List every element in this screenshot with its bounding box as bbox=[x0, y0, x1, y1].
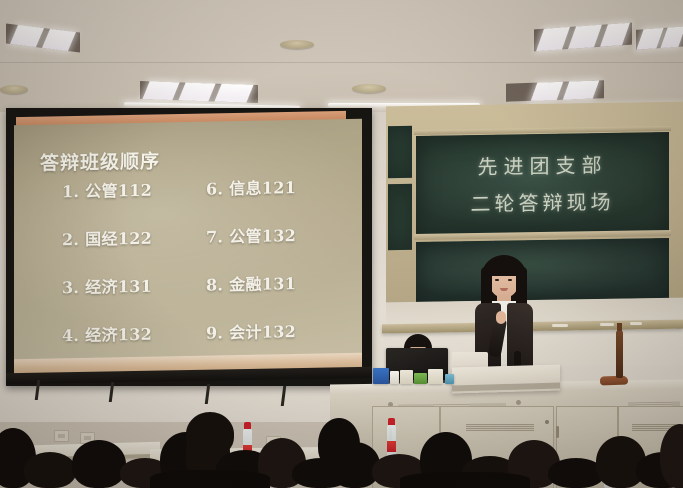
leather-pouch bbox=[600, 376, 628, 386]
audience-head bbox=[72, 440, 126, 488]
slide-list-item: 9. 会计132 bbox=[206, 318, 308, 344]
desk-box bbox=[390, 371, 399, 384]
slide-list-item: 6. 信息121 bbox=[206, 174, 308, 200]
bottle-cap bbox=[388, 418, 395, 425]
projection-screen[interactable]: 答辩班级顺序 1. 公管112 2. 国经122 3. 经济131 4. 经济1… bbox=[6, 108, 372, 386]
desk-box bbox=[445, 374, 454, 384]
blackboard-side-panel bbox=[388, 126, 412, 178]
blackboard-line-1: 先进团支部 bbox=[416, 148, 669, 181]
slide-content: 答辩班级顺序 1. 公管112 2. 国经122 3. 经济131 4. 经济1… bbox=[14, 119, 362, 361]
audience-shoulders bbox=[400, 472, 530, 488]
blackboard-side-panel bbox=[388, 184, 412, 250]
classroom-photo: 先进团支部 二轮答辩现场 答辩班级顺序 1. 公管112 2. 国经122 3.… bbox=[0, 0, 683, 488]
slide-list-item: 4. 经济132 bbox=[62, 321, 152, 347]
smoke-detector-icon bbox=[0, 85, 28, 94]
audience-head bbox=[318, 418, 360, 470]
dark-bottle bbox=[616, 330, 623, 378]
recessed-troffer-light bbox=[6, 23, 80, 52]
slide-list-item: 7. 公管132 bbox=[206, 222, 308, 248]
chalk-piece bbox=[552, 324, 568, 327]
presenter-eye-right bbox=[508, 279, 512, 281]
recessed-troffer-light bbox=[506, 80, 604, 101]
presenter-eye-left bbox=[495, 279, 499, 281]
recessed-troffer-light bbox=[534, 23, 632, 52]
presenter-hand bbox=[496, 311, 506, 324]
smoke-detector-icon bbox=[280, 40, 314, 49]
audience-head bbox=[186, 412, 234, 456]
bottle-cap bbox=[244, 422, 251, 429]
slide-right-column: 6. 信息121 7. 公管132 8. 金融131 9. 会计132 10. … bbox=[206, 174, 308, 361]
slide-list-item: 8. 金融131 bbox=[206, 270, 308, 296]
audience-shoulders bbox=[150, 470, 270, 488]
chalk-piece bbox=[630, 322, 642, 325]
desk-box bbox=[373, 368, 389, 384]
slide-list-item: 1. 公管112 bbox=[62, 177, 152, 203]
cabinet-screw bbox=[545, 420, 549, 424]
desk-box bbox=[428, 369, 443, 384]
desk-box bbox=[414, 373, 427, 384]
slide-list-item: 2. 国经122 bbox=[62, 225, 152, 251]
cabinet-handle[interactable] bbox=[556, 426, 559, 438]
ceiling bbox=[0, 0, 683, 118]
desk-box bbox=[400, 370, 413, 384]
assistant-bangs bbox=[406, 339, 430, 347]
blackboard-chalk-text: 先进团支部 二轮答辩现场 bbox=[416, 130, 669, 236]
smoke-detector-icon bbox=[352, 84, 386, 93]
audience-head bbox=[24, 452, 76, 488]
cabinet-vent bbox=[466, 424, 534, 431]
slide-title: 答辩班级顺序 bbox=[40, 147, 160, 176]
power-outlet bbox=[54, 430, 69, 442]
screen-surface: 答辩班级顺序 1. 公管112 2. 国经122 3. 经济131 4. 经济1… bbox=[14, 119, 362, 361]
slide-left-column: 1. 公管112 2. 国经122 3. 经济131 4. 经济132 5. 国… bbox=[62, 177, 152, 362]
slide-list-item: 3. 经济131 bbox=[62, 273, 152, 299]
recessed-troffer-light bbox=[636, 26, 683, 50]
desk-knob[interactable] bbox=[516, 400, 521, 405]
chalk-piece bbox=[600, 323, 614, 326]
recessed-troffer-light bbox=[140, 81, 258, 103]
blackboard-line-2: 二轮答辩现场 bbox=[416, 185, 669, 218]
bottle-label bbox=[387, 441, 396, 452]
